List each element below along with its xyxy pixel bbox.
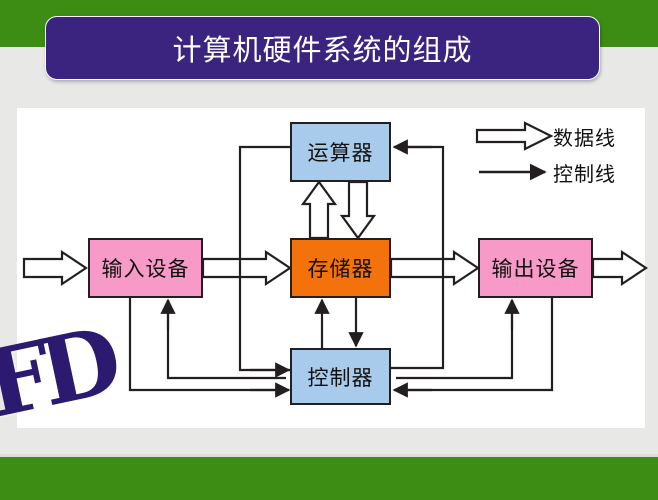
- control-line-alu-to-ctrl-right: [391, 147, 443, 368]
- legend-item-data-line: 数据线: [475, 118, 645, 154]
- node-input-device[interactable]: 输入设备: [88, 238, 203, 298]
- diagram-legend: 数据线 控制线: [475, 118, 645, 190]
- data-arrow-alu-to-memory: [342, 182, 374, 238]
- data-arrow-memory-to-alu: [303, 182, 335, 238]
- slide-canvas: 计算机硬件系统的组成 FD: [0, 0, 658, 500]
- node-label-controller: 控制器: [308, 362, 374, 392]
- solid-line-arrow-icon: [475, 157, 553, 187]
- data-arrow-external-to-input: [24, 252, 86, 284]
- data-arrow-memory-to-output: [391, 252, 478, 284]
- control-line-output-to-ctrl: [396, 298, 552, 390]
- control-line-input-bottom-to-ctrl: [130, 298, 286, 390]
- node-arithmetic-unit[interactable]: 运算器: [290, 122, 391, 182]
- node-label-memory: 存储器: [308, 253, 374, 283]
- node-label-output-device: 输出设备: [492, 253, 580, 283]
- control-line-ctrl-to-input: [168, 300, 286, 378]
- node-controller[interactable]: 控制器: [290, 348, 391, 405]
- hollow-block-arrow-icon: [475, 121, 553, 151]
- node-label-input-device: 输入设备: [102, 253, 190, 283]
- legend-label-control-line: 控制线: [553, 158, 616, 187]
- node-label-alu: 运算器: [308, 137, 374, 167]
- data-arrow-input-to-memory: [203, 252, 290, 284]
- legend-item-control-line: 控制线: [475, 154, 645, 190]
- control-line-ctrl-to-output: [396, 300, 512, 378]
- data-arrow-output-to-external: [593, 252, 646, 284]
- node-memory[interactable]: 存储器: [290, 238, 391, 298]
- legend-label-data-line: 数据线: [553, 122, 616, 151]
- node-output-device[interactable]: 输出设备: [478, 238, 593, 298]
